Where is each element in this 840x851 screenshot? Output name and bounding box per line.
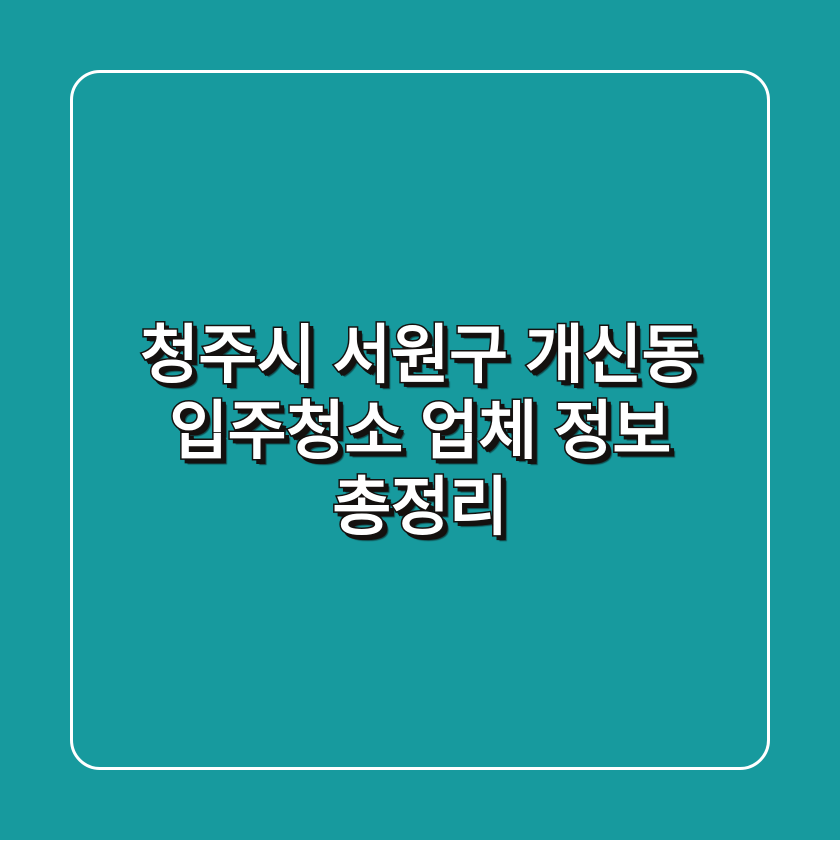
page-title-line-2: 입주청소 업체 정보 — [78, 393, 762, 469]
page-title: 청주시 서원구 개신동 입주청소 업체 정보 총정리 — [0, 11, 840, 851]
page-title-line-3: 총정리 — [78, 469, 762, 545]
thumbnail-card: 청주시 서원구 개신동 입주청소 업체 정보 총정리 — [0, 0, 840, 840]
page-title-line-1: 청주시 서원구 개신동 — [78, 317, 762, 393]
